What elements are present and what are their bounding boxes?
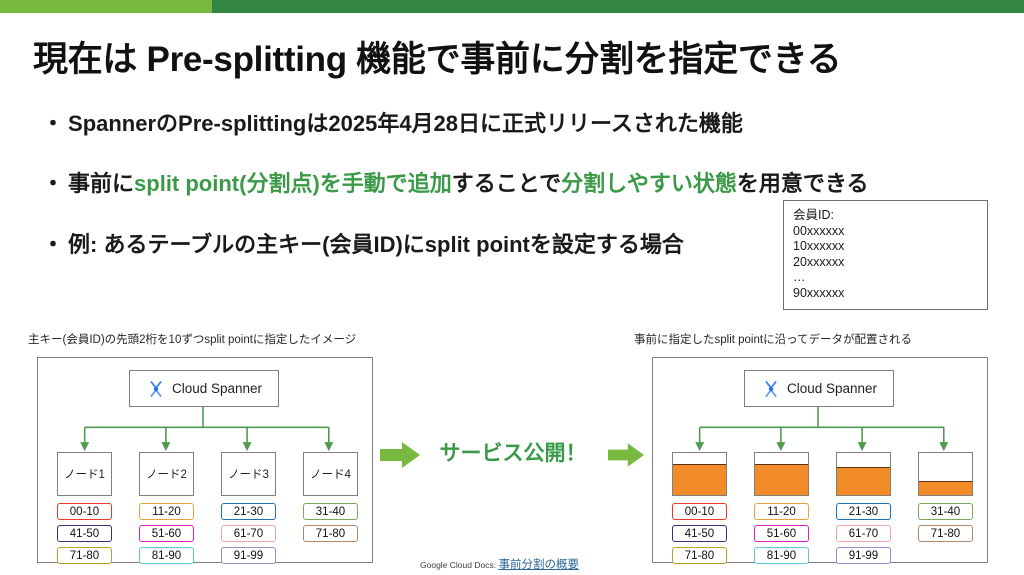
left-node-box-4: ノード4 xyxy=(303,452,358,496)
right-range-chip: 71-80 xyxy=(672,547,727,564)
left-range-chip: 81-90 xyxy=(139,547,194,564)
left-range-chip: 51-60 xyxy=(139,525,194,542)
left-range-chip: 41-50 xyxy=(57,525,112,542)
right-range-chip: 41-50 xyxy=(672,525,727,542)
right-node-box-3 xyxy=(836,452,891,496)
left-range-chip: 71-80 xyxy=(303,525,358,542)
bullet-marker: ・ xyxy=(42,227,64,259)
left-node-label-2: ノード2 xyxy=(146,466,187,482)
node-fill-level-3 xyxy=(837,467,890,495)
footer-link[interactable]: 事前分割の概要 xyxy=(498,559,579,571)
accent-segment-light xyxy=(0,0,212,13)
right-arrow-icon-left xyxy=(380,442,420,468)
member-id-line: 会員ID: xyxy=(793,208,987,224)
member-id-line: 00xxxxxx xyxy=(793,224,987,240)
right-range-chip: 61-70 xyxy=(836,525,891,542)
right-node-box-2 xyxy=(754,452,809,496)
right-node-box-1 xyxy=(672,452,727,496)
member-id-line: … xyxy=(793,270,987,286)
left-node-box-1: ノード1 xyxy=(57,452,112,496)
bullet-marker: ・ xyxy=(42,106,64,138)
bullet-text-2a: 事前に xyxy=(68,171,134,196)
right-range-chip: 00-10 xyxy=(672,503,727,520)
accent-segment-dark xyxy=(212,0,1024,13)
right-arrow-icon-right xyxy=(608,442,644,468)
transition-label: サービス公開！ xyxy=(425,437,601,467)
right-range-chip: 31-40 xyxy=(918,503,973,520)
bullet-item-2: ・事前にsplit point(分割点)を手動で追加することで分割しやすい状態を… xyxy=(42,166,868,198)
right-cloud-spanner-label: Cloud Spanner xyxy=(787,381,877,396)
left-range-chip: 91-99 xyxy=(221,547,276,564)
node-fill-level-1 xyxy=(673,464,726,495)
right-range-chip: 21-30 xyxy=(836,503,891,520)
right-range-chip: 91-99 xyxy=(836,547,891,564)
footer-prefix: Google Cloud Docs: xyxy=(420,560,496,570)
node-fill-level-4 xyxy=(919,481,972,495)
left-range-chip: 71-80 xyxy=(57,547,112,564)
left-range-chip: 31-40 xyxy=(303,503,358,520)
bullet-text-2b: することで xyxy=(452,171,561,196)
left-range-chip: 00-10 xyxy=(57,503,112,520)
bullet-text-3: 例: あるテーブルの主キー(会員ID)にsplit pointを設定する場合 xyxy=(68,232,684,257)
right-node-box-4 xyxy=(918,452,973,496)
member-id-example-box: 会員ID: 00xxxxxx 10xxxxxx 20xxxxxx … 90xxx… xyxy=(783,200,988,310)
right-range-chip: 81-90 xyxy=(754,547,809,564)
slide-root: 現在は Pre-splitting 機能で事前に分割を指定できる ・Spanne… xyxy=(0,0,1024,575)
left-node-label-1: ノード1 xyxy=(64,466,105,482)
bullet-text-2c: を用意できる xyxy=(737,171,869,196)
bullet-text-1: SpannerのPre-splittingは2025年4月28日に正式リリースさ… xyxy=(68,111,743,136)
left-cloud-spanner-label: Cloud Spanner xyxy=(172,381,262,396)
left-node-label-3: ノード3 xyxy=(228,466,269,482)
left-node-box-2: ノード2 xyxy=(139,452,194,496)
bullet-marker: ・ xyxy=(42,166,64,198)
left-diagram-caption: 主キー(会員ID)の先頭2桁を10ずつsplit pointに指定したイメージ xyxy=(28,331,356,347)
page-title: 現在は Pre-splitting 機能で事前に分割を指定できる xyxy=(33,31,841,82)
bullet-item-1: ・SpannerのPre-splittingは2025年4月28日に正式リリース… xyxy=(42,106,743,138)
member-id-line: 20xxxxxx xyxy=(793,255,987,271)
right-cloud-spanner-box: Cloud Spanner xyxy=(744,370,894,407)
right-range-chip: 51-60 xyxy=(754,525,809,542)
left-range-chip: 21-30 xyxy=(221,503,276,520)
right-diagram-panel: Cloud Spanner 00-10 41-50 71-80 xyxy=(652,357,988,563)
left-node-label-4: ノード4 xyxy=(310,466,351,482)
right-diagram-caption: 事前に指定したsplit pointに沿ってデータが配置される xyxy=(634,331,912,347)
footer-credit: Google Cloud Docs: 事前分割の概要 xyxy=(420,556,579,572)
transition-group: サービス公開！ xyxy=(380,436,644,472)
left-node-box-3: ノード3 xyxy=(221,452,276,496)
node-fill-level-2 xyxy=(755,464,808,495)
left-cloud-spanner-box: Cloud Spanner xyxy=(129,370,279,407)
bullet-text-2-green-1: split point(分割点)を手動で追加 xyxy=(134,171,452,196)
bullet-text-2-green-2: 分割しやすい状態 xyxy=(561,171,737,196)
member-id-line: 90xxxxxx xyxy=(793,286,987,302)
cloud-spanner-icon xyxy=(761,379,781,399)
top-accent-bar xyxy=(0,0,1024,13)
right-range-chip: 71-80 xyxy=(918,525,973,542)
member-id-line: 10xxxxxx xyxy=(793,239,987,255)
left-range-chip: 11-20 xyxy=(139,503,194,520)
cloud-spanner-icon xyxy=(146,379,166,399)
bullet-item-3: ・例: あるテーブルの主キー(会員ID)にsplit pointを設定する場合 xyxy=(42,227,684,259)
left-range-chip: 61-70 xyxy=(221,525,276,542)
left-diagram-panel: Cloud Spanner ノード1 ノード2 ノード3 ノード4 00-10 xyxy=(37,357,373,563)
right-range-chip: 11-20 xyxy=(754,503,809,520)
